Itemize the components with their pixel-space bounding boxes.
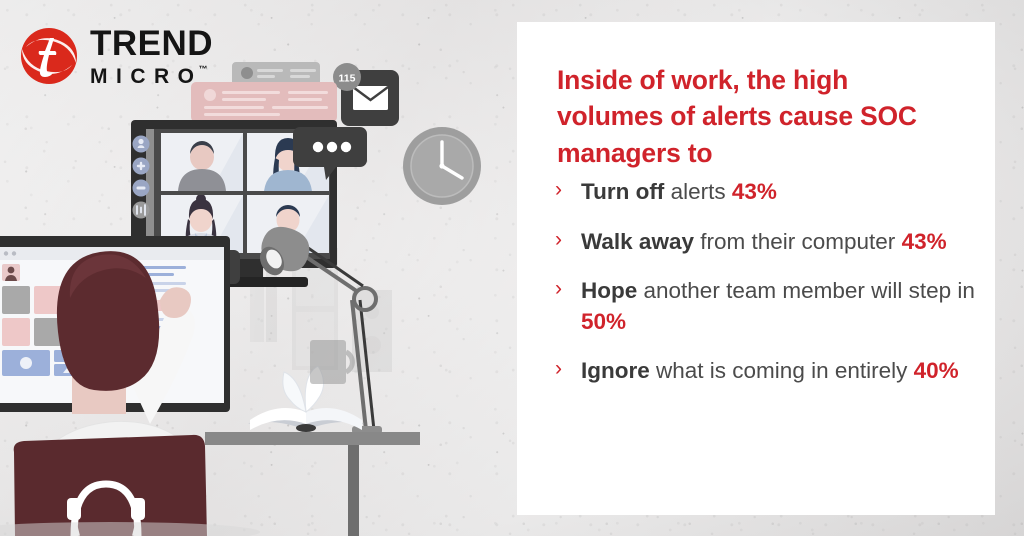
desk [205, 432, 420, 536]
trademark-symbol: ™ [199, 65, 208, 74]
logo-micro-text: MICRO [90, 66, 203, 87]
list-item-lead: Hope [581, 278, 637, 303]
chevron-right-icon: › [555, 177, 581, 208]
trend-micro-wordmark: TREND MICRO ™ [90, 24, 213, 87]
list-item-body: what is coming in entirely [650, 358, 914, 383]
content-panel: Inside of work, the high volumes of aler… [517, 22, 995, 515]
floor-shadow [0, 522, 260, 536]
list-item-text: Turn off alerts 43% [581, 177, 777, 208]
list-item-text: Ignore what is coming in entirely 40% [581, 356, 959, 387]
chevron-right-icon: › [555, 356, 581, 387]
email-badge: 115 [333, 63, 361, 91]
list-item-text: Hope another team member will step in 50… [581, 276, 975, 337]
statistic-percent: 43% [902, 229, 947, 254]
list-item-body: another team member will step in [637, 278, 975, 303]
list-item-body: from their computer [694, 229, 902, 254]
chevron-right-icon: › [555, 227, 581, 258]
list-item-lead: Turn off [581, 179, 664, 204]
logo-trend-text: TREND [90, 26, 213, 61]
statistic-percent: 43% [732, 179, 777, 204]
list-item: ›Walk away from their computer 43% [555, 227, 975, 258]
trend-micro-ball-icon [20, 27, 78, 85]
list-item: ›Turn off alerts 43% [555, 177, 975, 208]
statistic-percent: 50% [581, 309, 626, 334]
participant-tile-1 [161, 133, 243, 191]
list-item: ›Hope another team member will step in 5… [555, 276, 975, 337]
clock-icon [403, 127, 481, 205]
list-item-body: alerts [664, 179, 732, 204]
statistics-list: ›Turn off alerts 43%›Walk away from thei… [555, 177, 975, 406]
list-item-text: Walk away from their computer 43% [581, 227, 947, 258]
coffee-mug [310, 340, 352, 384]
email-badge-count: 115 [339, 73, 356, 85]
list-item: ›Ignore what is coming in entirely 40% [555, 356, 975, 387]
statistic-percent: 40% [914, 358, 959, 383]
open-book [248, 366, 364, 432]
chevron-right-icon: › [555, 276, 581, 337]
list-item-lead: Walk away [581, 229, 694, 254]
page-title: Inside of work, the high volumes of aler… [557, 62, 957, 171]
list-item-lead: Ignore [581, 358, 650, 383]
trend-micro-logo: TREND MICRO ™ [20, 24, 213, 87]
